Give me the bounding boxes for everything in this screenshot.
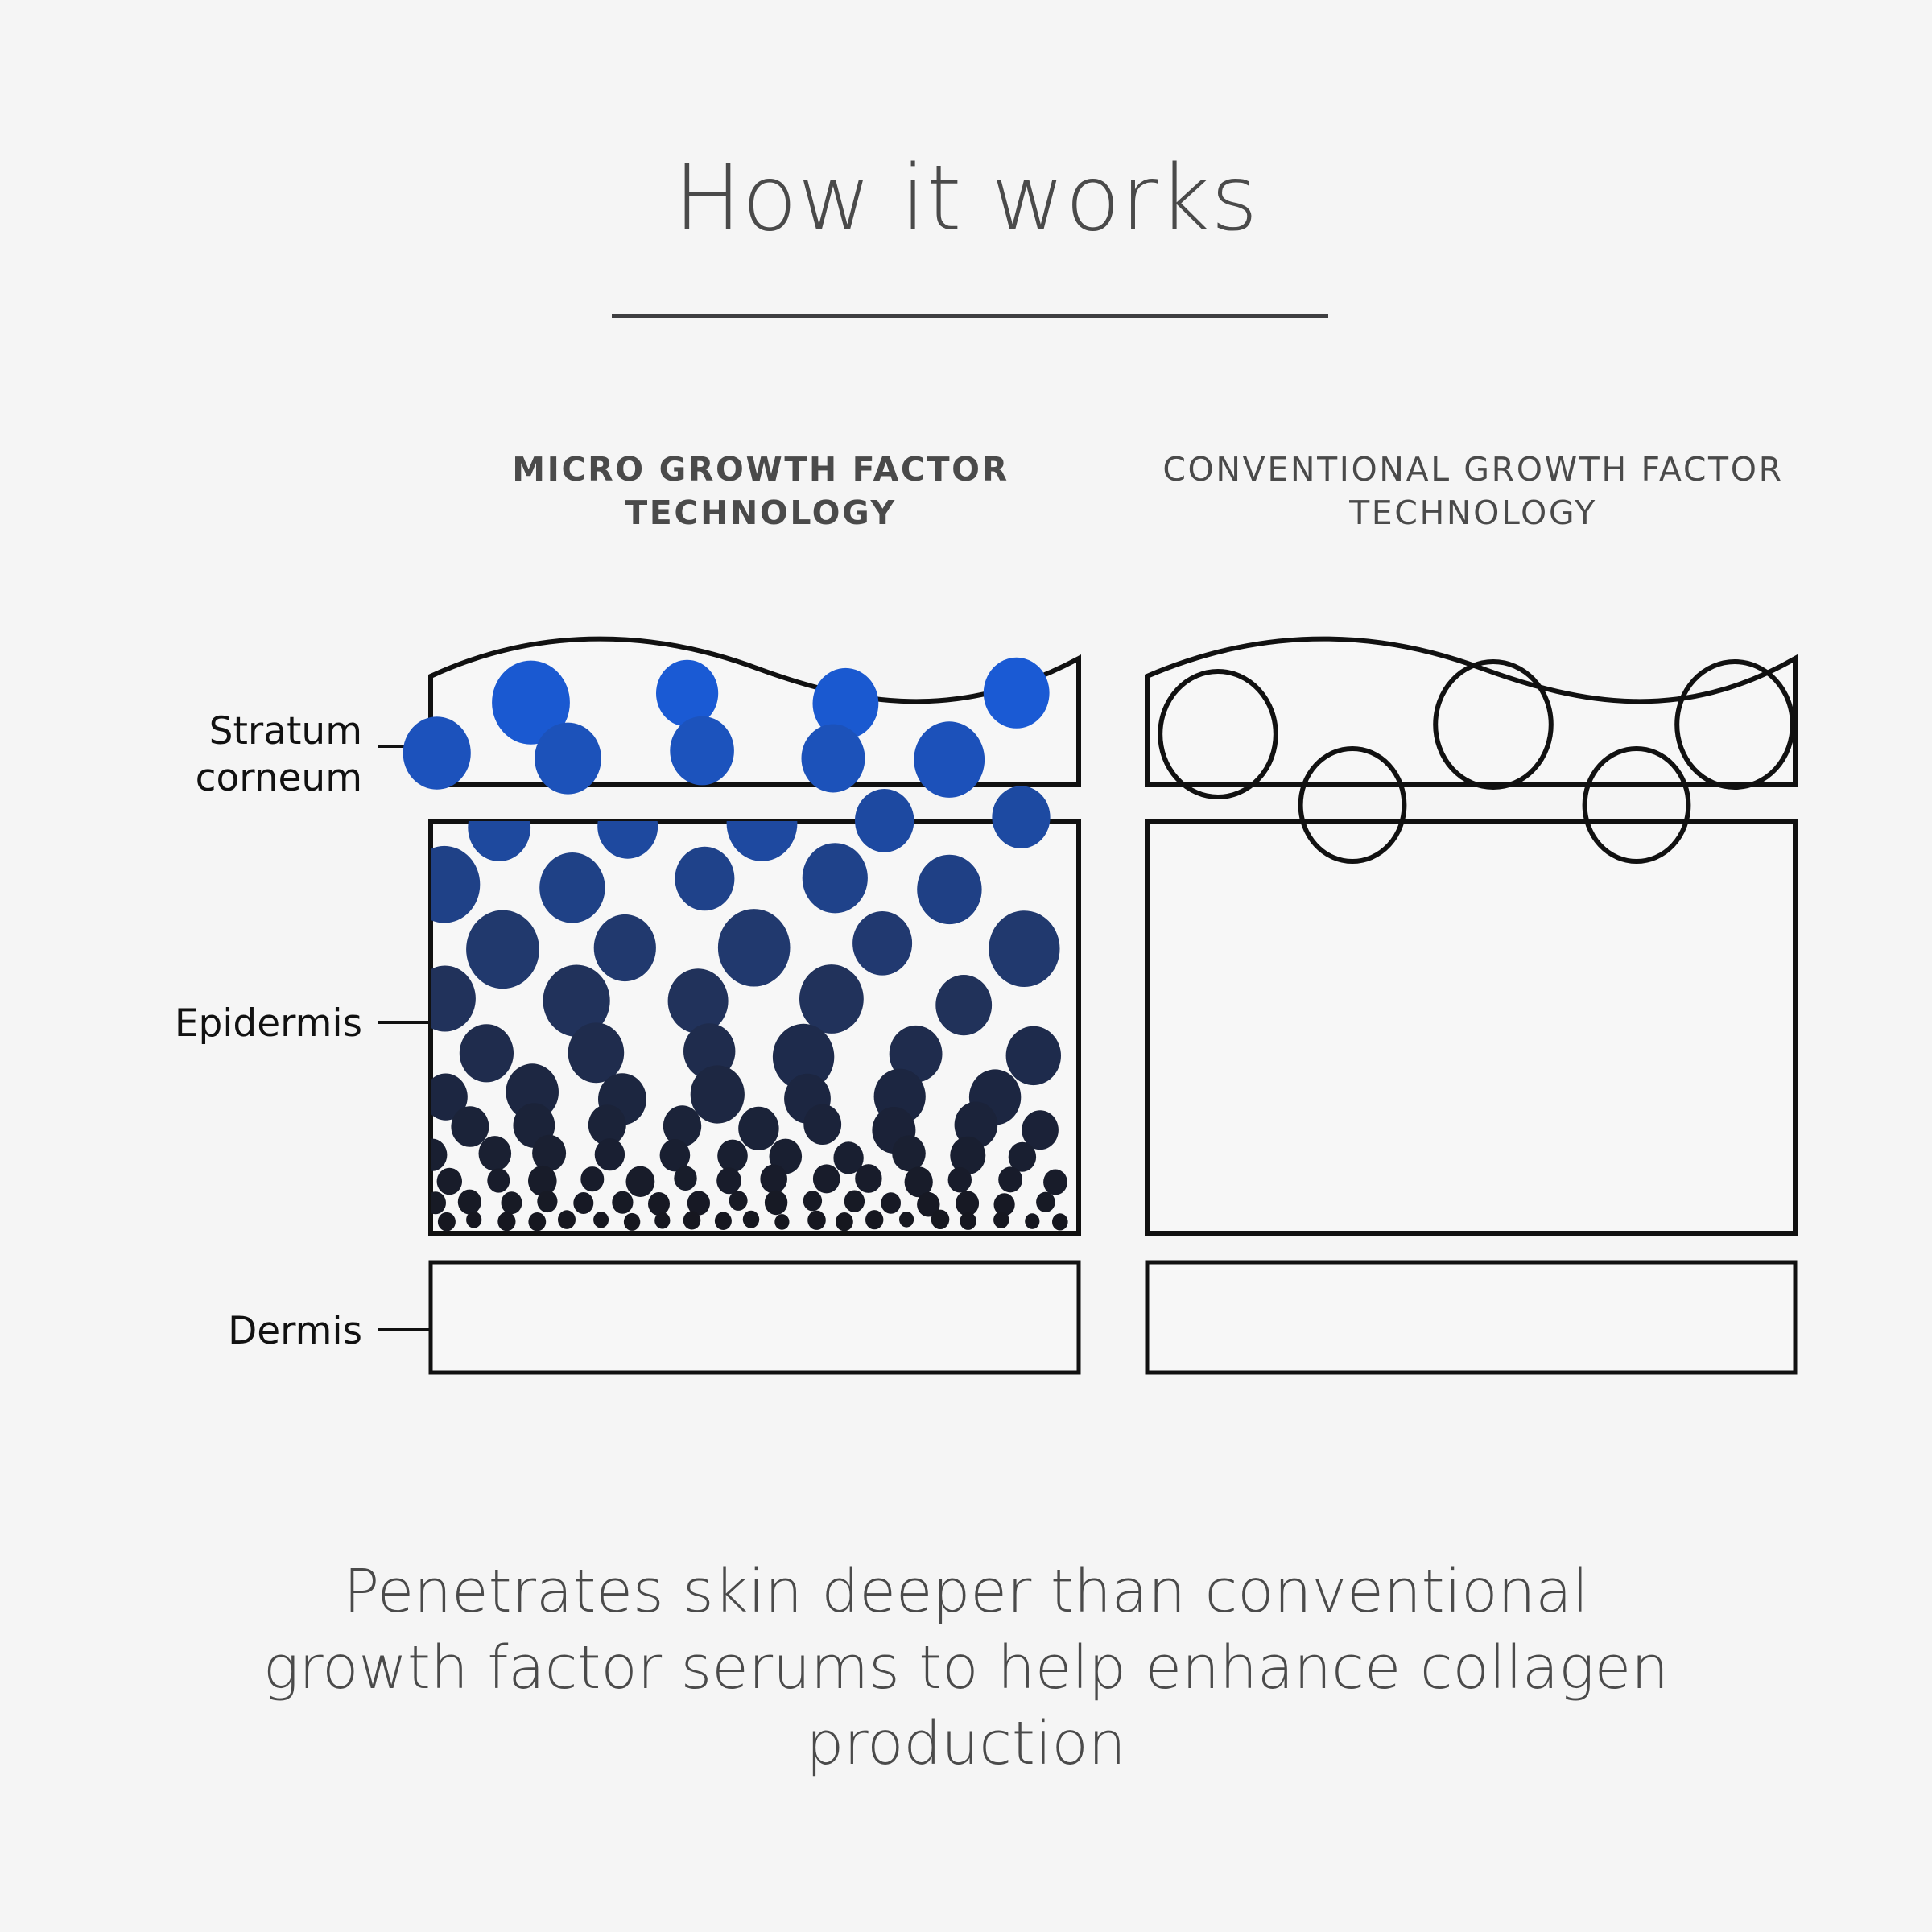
micro-particle (528, 1166, 557, 1196)
micro-particle-field (403, 658, 1068, 1232)
left-epidermis-box (431, 821, 1079, 1233)
micro-particle (984, 658, 1050, 729)
micro-particle (1043, 1170, 1067, 1195)
micro-particle (506, 1063, 559, 1120)
micro-particle (539, 852, 605, 923)
micro-particle (802, 724, 865, 793)
micro-particle (626, 1166, 655, 1197)
micro-particle (691, 1065, 745, 1123)
micro-particle (774, 1214, 789, 1230)
micro-particle (956, 1191, 979, 1216)
micro-particle (514, 1103, 555, 1148)
micro-particle (497, 1212, 515, 1232)
micro-particle (948, 1167, 972, 1193)
layer-label-dermis: Dermis (80, 1308, 362, 1355)
micro-particle (683, 1023, 735, 1079)
leader-line-stratum-corneum (378, 745, 433, 748)
micro-particle (717, 1140, 748, 1173)
micro-particle (1022, 1110, 1059, 1150)
micro-particle (993, 1212, 1009, 1228)
micro-particle (727, 785, 798, 861)
micro-particle (1006, 1026, 1061, 1085)
left-stratum-corneum-outline (431, 639, 1079, 785)
micro-particle (716, 1167, 741, 1194)
micro-particle (598, 1073, 646, 1125)
micro-particle (874, 1069, 926, 1125)
micro-particle (593, 1212, 609, 1228)
micro-particle (955, 1102, 998, 1149)
micro-particle (715, 1212, 732, 1230)
micro-particle (892, 1135, 926, 1171)
column-header-conventional: CONVENTIONAL GROWTH FACTOR TECHNOLOGY (1107, 448, 1839, 535)
micro-particle (624, 1213, 640, 1231)
micro-particle (535, 723, 601, 795)
micro-particle (760, 1164, 787, 1193)
micro-particle (654, 1212, 670, 1229)
micro-particle (994, 1193, 1015, 1216)
micro-particle (935, 975, 992, 1035)
micro-particle (1009, 1142, 1036, 1172)
micro-particle (668, 968, 729, 1034)
micro-particle (487, 1168, 510, 1192)
right-epidermis-box (1147, 821, 1795, 1233)
micro-particle (865, 1210, 883, 1229)
micro-particle (718, 909, 791, 986)
micro-particle (466, 910, 539, 989)
title-divider (612, 314, 1328, 318)
micro-particle (773, 1024, 834, 1090)
micro-particle (670, 716, 734, 786)
micro-particle (803, 843, 868, 913)
micro-particle (890, 1026, 943, 1083)
micro-particle (881, 1192, 901, 1214)
micro-particle (568, 1022, 625, 1083)
micro-particle (656, 660, 718, 727)
micro-particle (687, 1191, 710, 1215)
conventional-particle (1585, 749, 1689, 861)
micro-particle (675, 847, 734, 911)
conventional-particle (1160, 671, 1276, 797)
micro-particle (855, 1164, 881, 1193)
micro-particle (738, 1107, 778, 1150)
micro-particle (803, 1104, 841, 1145)
micro-particle (612, 1191, 633, 1214)
micro-particle (580, 1166, 604, 1191)
micro-particle (424, 1074, 468, 1121)
micro-particle (989, 910, 1059, 987)
micro-particle (1052, 1213, 1068, 1230)
micro-particle (1025, 1213, 1039, 1229)
micro-particle (833, 1141, 863, 1174)
micro-particle (528, 1212, 546, 1231)
micro-particle (594, 914, 656, 981)
micro-particle (852, 911, 912, 976)
micro-particle (492, 661, 570, 745)
infographic-root: How it works MICRO GROWTH FACTOR TECHNOL… (0, 0, 1932, 1932)
right-stratum-corneum-outline (1147, 639, 1795, 785)
micro-particle (917, 1192, 939, 1217)
right-dermis-box (1147, 1262, 1795, 1373)
micro-particle (836, 1212, 853, 1231)
panel-micro-growth (403, 639, 1079, 1373)
micro-particle (648, 1192, 670, 1216)
micro-particle (588, 1104, 626, 1146)
title-block: How it works (0, 153, 1932, 245)
micro-particle (468, 794, 530, 861)
micro-particle (872, 1107, 915, 1154)
micro-particle (683, 1211, 701, 1229)
micro-particle (458, 1190, 481, 1215)
micro-particle (403, 716, 471, 790)
micro-particle (438, 1212, 456, 1232)
micro-particle (543, 965, 610, 1037)
leader-line-epidermis (378, 1021, 433, 1024)
micro-particle (770, 1139, 803, 1174)
micro-particle (532, 1135, 566, 1171)
micro-particle (969, 1069, 1021, 1125)
micro-particle (597, 794, 658, 859)
micro-particle (663, 1105, 701, 1146)
micro-particle (437, 1168, 462, 1195)
micro-particle (502, 1191, 522, 1214)
conventional-particle (1677, 662, 1793, 787)
conventional-particle (1435, 662, 1551, 787)
caption-text: Penetrates skin deeper than conventional… (242, 1554, 1690, 1782)
conventional-particle (1301, 749, 1405, 861)
micro-particle (950, 1137, 985, 1174)
micro-particle (573, 1192, 593, 1214)
micro-particle (479, 1136, 512, 1171)
micro-particle (784, 1074, 831, 1124)
micro-particle (914, 721, 985, 798)
page-title: How it works (0, 153, 1932, 245)
left-dermis-box (431, 1262, 1079, 1373)
column-header-micro: MICRO GROWTH FACTOR TECHNOLOGY (427, 448, 1095, 535)
micro-particle (595, 1138, 625, 1170)
conventional-particle-field (1160, 662, 1793, 861)
layer-label-epidermis: Epidermis (80, 1001, 362, 1047)
micro-particle (803, 1191, 822, 1211)
micro-particle (813, 668, 879, 739)
micro-particle (674, 1166, 696, 1191)
micro-particle (537, 1191, 557, 1212)
micro-particle (931, 1210, 950, 1229)
leader-line-dermis (378, 1328, 433, 1331)
layer-label-stratum-corneum: Stratumcorneum (80, 708, 362, 803)
micro-particle (917, 855, 981, 924)
micro-particle (1036, 1192, 1055, 1212)
micro-particle (855, 789, 914, 852)
micro-particle (466, 1212, 481, 1228)
micro-particle (460, 1024, 514, 1082)
micro-particle (558, 1210, 576, 1229)
micro-particle (451, 1106, 489, 1147)
micro-particle (729, 1191, 748, 1211)
panel-conventional-growth (1147, 639, 1795, 1373)
micro-particle (905, 1166, 933, 1197)
micro-particle (765, 1191, 787, 1216)
micro-particle (960, 1212, 976, 1230)
micro-particle (409, 846, 481, 923)
micro-particle (799, 964, 864, 1034)
micro-particle (425, 1191, 446, 1214)
micro-particle (660, 1139, 691, 1171)
micro-particle (813, 1164, 840, 1193)
micro-particle (844, 1191, 865, 1212)
micro-particle (998, 1166, 1022, 1192)
micro-particle (743, 1211, 759, 1228)
micro-particle (992, 786, 1050, 848)
micro-particle (899, 1212, 914, 1228)
micro-particle (417, 1139, 448, 1171)
micro-particle (807, 1211, 826, 1230)
